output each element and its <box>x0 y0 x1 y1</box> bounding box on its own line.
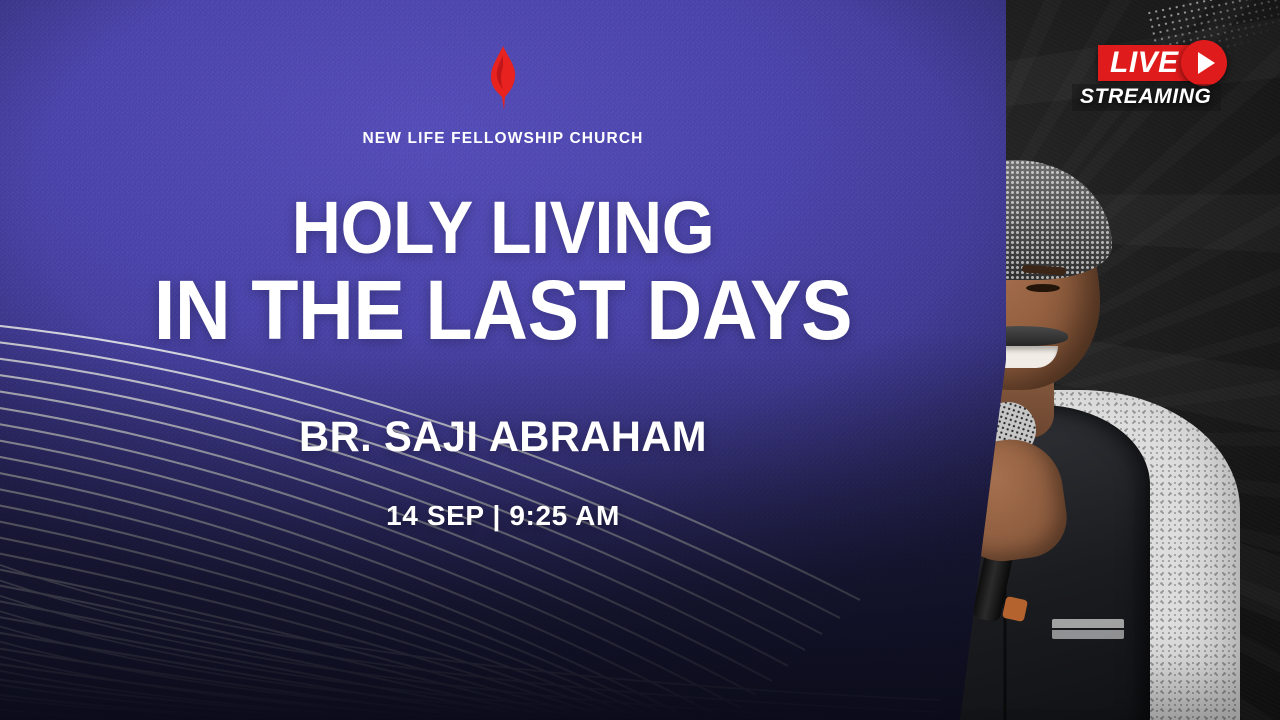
flame-icon <box>0 46 1006 110</box>
vest-logo <box>1052 619 1124 639</box>
poster-content: NEW LIFE FELLOWSHIP CHURCH HOLY LIVING I… <box>0 0 1006 720</box>
live-badge-row: LIVE <box>1098 40 1227 86</box>
speaker-name: BR. SAJI ABRAHAM <box>15 413 991 462</box>
title-line-2: IN THE LAST DAYS <box>40 269 966 351</box>
livestream-poster-screen: NEW LIFE FELLOWSHIP CHURCH HOLY LIVING I… <box>0 0 1280 720</box>
event-datetime: 14 SEP | 9:25 AM <box>0 500 1006 532</box>
streaming-label: STREAMING <box>1072 84 1221 111</box>
play-icon[interactable] <box>1181 40 1227 86</box>
speaker-eye-right <box>1026 284 1060 292</box>
church-name: NEW LIFE FELLOWSHIP CHURCH <box>0 130 1006 148</box>
title-line-1: HOLY LIVING <box>292 186 714 269</box>
live-streaming-badge[interactable]: LIVE STREAMING <box>1098 40 1268 112</box>
page-title: HOLY LIVING IN THE LAST DAYS <box>40 192 966 351</box>
play-triangle <box>1198 52 1215 74</box>
